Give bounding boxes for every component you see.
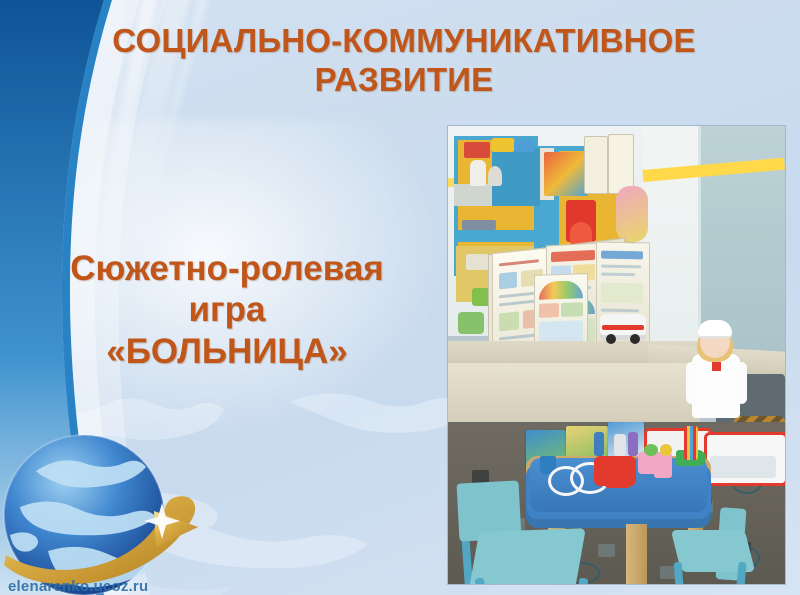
toy-item	[470, 160, 486, 186]
counter-front	[448, 363, 700, 425]
subtitle-line-2: игра	[28, 289, 426, 330]
title-line-2: РАЗВИТИЕ	[315, 61, 494, 98]
ambulance-toy	[600, 314, 646, 340]
doctor-kit-label	[710, 456, 776, 478]
subtitle-line-3: «БОЛЬНИЦА»	[28, 331, 426, 372]
site-watermark: elenarenko.ucoz.ru	[8, 578, 148, 595]
subtitle: Сюжетно-ролевая игра «БОЛЬНИЦА»	[28, 248, 426, 372]
wall-middle	[643, 126, 701, 356]
toy-item	[644, 444, 658, 456]
toy-medical-tool	[604, 478, 632, 488]
toy-item	[462, 220, 496, 230]
table-leg	[626, 524, 647, 584]
toy-item	[544, 152, 588, 196]
presentation-slide: СОЦИАЛЬНО-КОММУНИКАТИВНОЕ РАЗВИТИЕ Сюжет…	[0, 0, 800, 595]
ambulance-stripe	[602, 325, 644, 330]
toy-item	[570, 222, 592, 244]
toy-wheel	[630, 334, 640, 344]
toy-item	[660, 444, 672, 456]
subtitle-line-1: Сюжетно-ролевая	[28, 248, 426, 289]
red-cross-badge	[712, 362, 721, 371]
toy-item	[464, 142, 490, 158]
toy-item	[594, 432, 604, 456]
photo-scene	[448, 126, 785, 584]
toy-item	[514, 140, 534, 152]
title-line-1: СОЦИАЛЬНО-КОММУНИКАТИВНОЕ	[112, 22, 696, 59]
chair-seat	[468, 528, 586, 584]
classroom-photo	[448, 126, 785, 584]
toy-wheel	[606, 334, 616, 344]
marker-set	[684, 426, 698, 460]
toy-item	[492, 138, 514, 152]
toy-item	[628, 432, 638, 456]
world-globe-icon	[0, 415, 216, 595]
toy-item	[616, 186, 648, 242]
poster-small	[584, 136, 608, 194]
page-title: СОЦИАЛЬНО-КОММУНИКАТИВНОЕ РАЗВИТИЕ	[92, 22, 716, 99]
nurse-doll-arm	[736, 362, 747, 404]
shelf-board	[458, 230, 538, 242]
toy-item	[466, 254, 488, 270]
toy-item	[654, 462, 672, 478]
nurse-doll-arm	[686, 362, 697, 404]
toy-item	[458, 312, 484, 334]
toy-item	[614, 434, 626, 456]
toy-item	[488, 166, 502, 186]
nurse-doll-cap	[698, 320, 732, 336]
poster-small	[608, 134, 634, 194]
